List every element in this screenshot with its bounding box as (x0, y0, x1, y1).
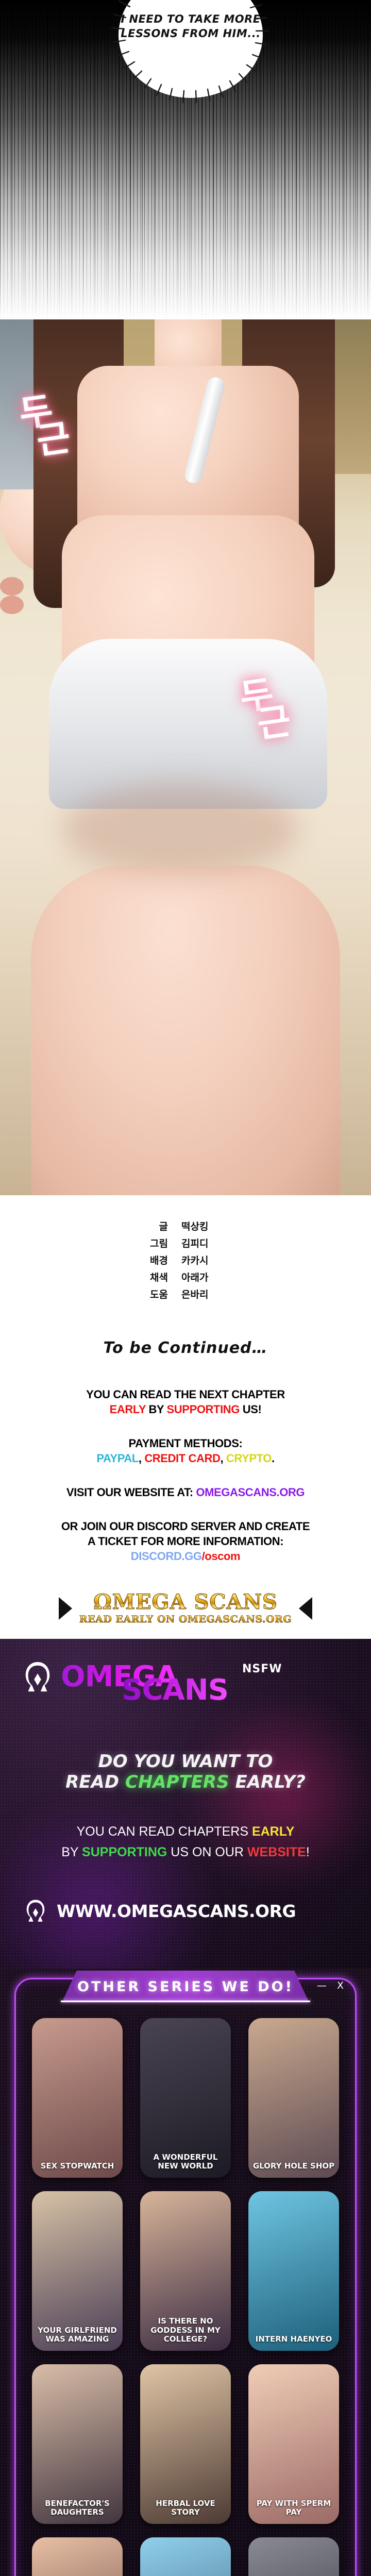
speech-bubble-text: I NEED TO TAKE MORE LESSONS FROM HIM... (106, 12, 276, 41)
credit-row: 배경 카카시 (0, 1253, 371, 1267)
promo-headline: DO YOU WANT TO READ CHAPTERS EARLY? (0, 1751, 371, 1792)
visit-website-line: VISIT OUR WEBSITE AT: OMEGASCANS.ORG (0, 1486, 371, 1499)
series-title: HERBAL LOVE STORY (140, 2499, 231, 2517)
triangle-left-icon (59, 1597, 72, 1620)
sub-bang: ! (306, 1845, 310, 1859)
series-thumbnail[interactable]: A WONDERFUL NEW WORLD (140, 2018, 231, 2178)
headline-chapters: CHAPTERS (125, 1772, 229, 1792)
credit-role: 글 (133, 1219, 168, 1233)
sub-website: WEBSITE (247, 1845, 306, 1859)
promo-early: EARLY (110, 1403, 146, 1416)
brand-scans-text: SCANS (122, 1676, 228, 1705)
credit-row: 글 떡상킹 (0, 1219, 371, 1233)
window-controls[interactable]: — X (317, 1980, 347, 1991)
series-thumbnail[interactable]: PAY WITH SPERM PAY (248, 2364, 339, 2524)
payment-paypal: PAYPAL (96, 1452, 139, 1465)
comic-panel-speedlines: I NEED TO TAKE MORE LESSONS FROM HIM... (0, 0, 371, 319)
series-thumbnail[interactable]: SEX STOPWATCH (32, 2018, 123, 2178)
spacer (0, 1418, 371, 1435)
sound-effect-heartbeat-top: 두 근 (18, 394, 71, 459)
series-title: YOUR GIRLFRIEND WAS AMAZING (32, 2326, 123, 2344)
payment-methods: PAYPAL, CREDIT CARD, CRYPTO. (0, 1452, 371, 1465)
series-card-title: OTHER SERIES WE DO! (77, 1979, 294, 1995)
gold-banner-subtitle: READ EARLY ON OMEGASCANS.ORG (79, 1614, 292, 1625)
promo-text-block: YOU CAN READ THE NEXT CHAPTER EARLY BY S… (0, 1388, 371, 1578)
promo-by: BY (146, 1403, 167, 1416)
spacer (0, 1501, 371, 1518)
series-title: GLORY HOLE SHOP (248, 2162, 339, 2171)
credits-block: 글 떡상킹 그림 김피디 배경 카카시 채색 아래가 도움 은바리 (0, 1195, 371, 1318)
payment-heading: PAYMENT METHODS: (0, 1437, 371, 1450)
series-title: A WONDERFUL NEW WORLD (140, 2153, 231, 2171)
credit-name: 은바리 (181, 1287, 238, 1301)
credit-name: 김피디 (181, 1236, 238, 1250)
spacer (0, 1467, 371, 1484)
discord-line-2: A TICKET FOR MORE INFORMATION: (0, 1535, 371, 1548)
series-thumbnail-grid: SEX STOPWATCH A WONDERFUL NEW WORLD GLOR… (32, 2018, 339, 2576)
promo-next-chapter: YOU CAN READ THE NEXT CHAPTER (0, 1388, 371, 1401)
shading (62, 783, 299, 876)
nsfw-badge: NSFW (242, 1663, 282, 1675)
series-title: PAY WITH SPERM PAY (248, 2499, 339, 2517)
series-title: IS THERE NO GODDESS IN MY COLLEGE? (140, 2317, 231, 2344)
series-thumbnail[interactable]: BENEFACTOR'S DAUGHTERS (32, 2364, 123, 2524)
spacer (0, 1565, 371, 1578)
series-title: BENEFACTOR'S DAUGHTERS (32, 2499, 123, 2517)
headline-read: READ (65, 1772, 125, 1792)
triangle-right-icon (299, 1597, 312, 1620)
sub-early: EARLY (252, 1824, 294, 1839)
series-title: INTERN HAENYEO (248, 2335, 339, 2344)
sub-supporting: SUPPORTING (82, 1845, 167, 1859)
promo-support-line: EARLY BY SUPPORTING US! (0, 1403, 371, 1416)
omega-logo-icon (22, 1660, 54, 1693)
visit-prefix: VISIT OUR WEBSITE AT: (66, 1486, 196, 1499)
website-url-bar[interactable]: WWW.OMEGASCANS.ORG (24, 1899, 371, 1923)
headline-early: EARLY? (229, 1772, 306, 1792)
credit-role: 채색 (133, 1270, 168, 1284)
discord-path: /oscom (202, 1550, 241, 1563)
series-thumbnail[interactable]: INTERN HAENYEO (248, 2191, 339, 2351)
gold-banner-text: ΩMEGA SCANS READ EARLY ON OMEGASCANS.ORG (79, 1592, 292, 1625)
discord-line-1: OR JOIN OUR DISCORD SERVER AND CREATE (0, 1520, 371, 1533)
gold-banner-title: ΩMEGA SCANS (79, 1592, 292, 1613)
discord-host: DISCORD.GG (131, 1550, 202, 1563)
payment-crypto: CRYPTO (226, 1452, 272, 1465)
series-thumbnail[interactable]: TRAPPED IN THE ACADEMY'S ROGE (140, 2537, 231, 2576)
speech-bubble: I NEED TO TAKE MORE LESSONS FROM HIM... (106, 0, 276, 108)
credit-row: 도움 은바리 (0, 1287, 371, 1301)
omega-logo-lockup: OMEGA SCANS NSFW (0, 1639, 371, 1693)
series-title: SEX STOPWATCH (32, 2162, 123, 2171)
omega-logo-icon (24, 1899, 47, 1923)
series-thumbnail[interactable]: MOBY DICK (248, 2537, 339, 2576)
series-thumbnail[interactable]: IS THERE NO GODDESS IN MY COLLEGE? (140, 2191, 231, 2351)
omega-promo-banner: OMEGA SCANS NSFW DO YOU WANT TO READ CHA… (0, 1639, 371, 1969)
header-underline (61, 2001, 310, 2002)
webtoon-chapter-page: I NEED TO TAKE MORE LESSONS FROM HIM... … (0, 0, 371, 2576)
headline-line-1: DO YOU WANT TO (98, 1751, 273, 1772)
credit-row: 그림 김피디 (0, 1236, 371, 1250)
sfx-char: 근 (35, 423, 71, 457)
credit-name: 카카시 (181, 1253, 238, 1267)
comic-panel-artwork: 두 근 두 근 (0, 319, 371, 1195)
credit-name: 아래가 (181, 1270, 238, 1284)
series-thumbnail[interactable]: YOUR GIRLFRIEND WAS AMAZING (32, 2191, 123, 2351)
series-thumbnail[interactable]: HERBAL LOVE STORY (140, 2364, 231, 2524)
sub-by: BY (61, 1845, 82, 1859)
banner-website-url: WWW.OMEGASCANS.ORG (57, 1901, 296, 1921)
to-be-continued: To be Continued… (0, 1339, 371, 1357)
credit-role: 도움 (133, 1287, 168, 1301)
sub-us-on-our: US ON OUR (167, 1845, 247, 1859)
character-detail-right (0, 596, 24, 614)
discord-invite-link[interactable]: DISCORD.GG/oscom (0, 1550, 371, 1563)
credit-name: 떡상킹 (181, 1219, 238, 1233)
omega-gold-banner: ΩMEGA SCANS READ EARLY ON OMEGASCANS.ORG (0, 1578, 371, 1639)
character-chest (77, 366, 299, 536)
promo-subtext: YOU CAN READ CHAPTERS EARLY BY SUPPORTIN… (0, 1821, 371, 1862)
credit-role: 배경 (133, 1253, 168, 1267)
payment-credit-card: CREDIT CARD (144, 1452, 220, 1465)
sfx-char: 근 (256, 706, 292, 740)
credit-role: 그림 (133, 1236, 168, 1250)
series-thumbnail[interactable]: MILF HUNTING IN ANOTHER WORLD (32, 2537, 123, 2576)
character-detail-left (0, 577, 24, 596)
credit-row: 채색 아래가 (0, 1270, 371, 1284)
series-card-header: OTHER SERIES WE DO! (62, 1971, 309, 2003)
sound-effect-heartbeat-bottom: 두 근 (238, 677, 292, 742)
sub-prefix: YOU CAN READ CHAPTERS (77, 1824, 252, 1839)
promo-supporting: SUPPORTING (167, 1403, 240, 1416)
website-url[interactable]: OMEGASCANS.ORG (196, 1486, 305, 1499)
character-lower-body (31, 866, 340, 1195)
promo-us: US! (240, 1403, 261, 1416)
other-series-card: OTHER SERIES WE DO! — X SEX STOPWATCH A … (0, 1969, 371, 2576)
series-thumbnail[interactable]: GLORY HOLE SHOP (248, 2018, 339, 2178)
